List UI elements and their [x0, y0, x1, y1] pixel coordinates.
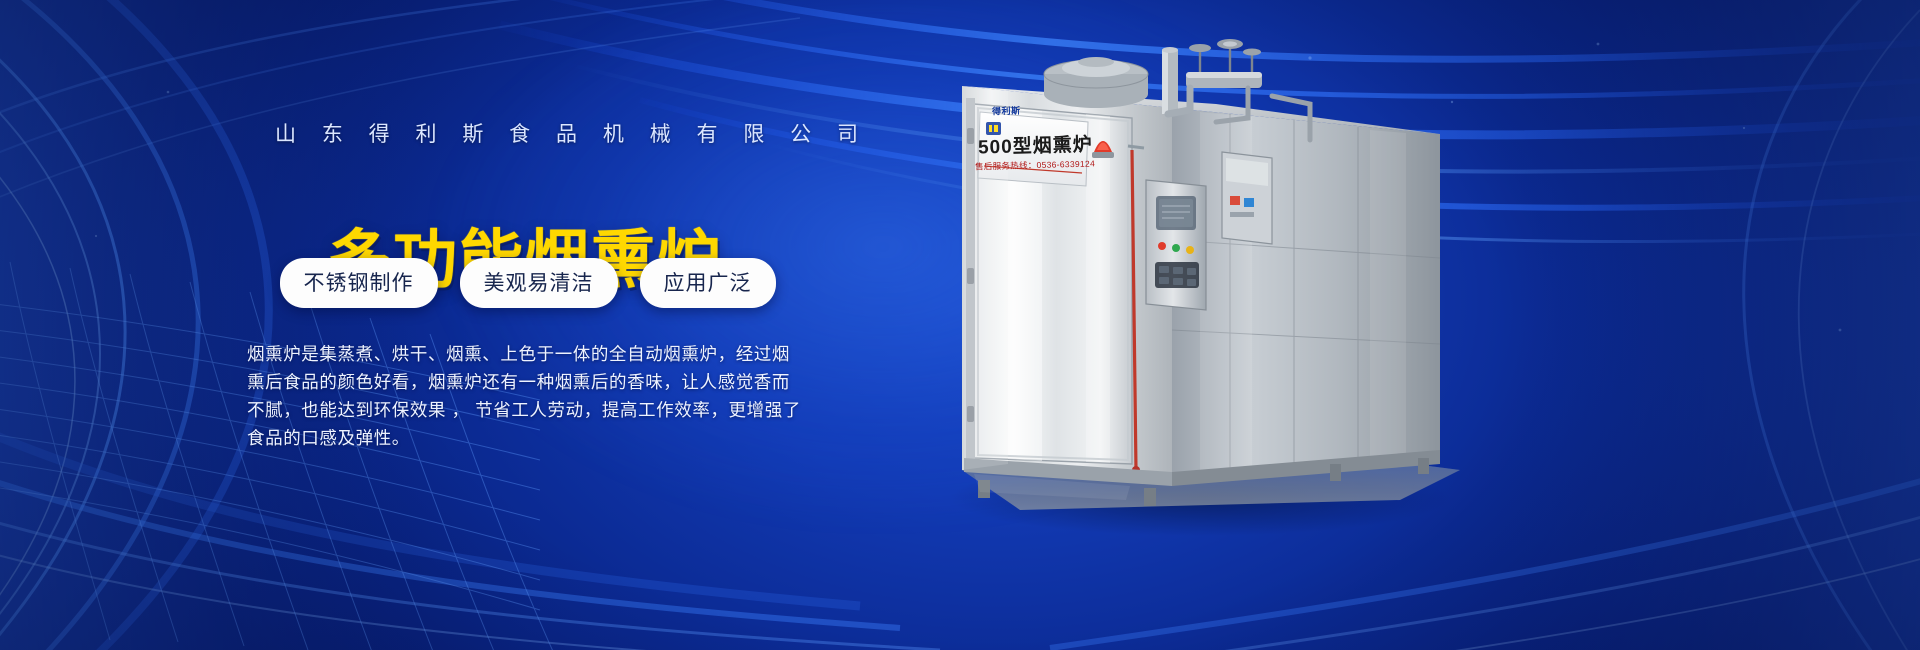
company-name: 山 东 得 利 斯 食 品 机 械 有 限 公 司 [275, 118, 775, 148]
banner-description: 烟熏炉是集蒸煮、烘干、烟熏、上色于一体的全自动烟熏炉，经过烟熏后食品的颜色好看，… [247, 340, 807, 452]
machine-sign-logo-text: 得利斯 [992, 104, 1021, 118]
feature-pill-list: 不锈钢制作 美观易清洁 应用广泛 [270, 258, 785, 308]
banner-text-block: 山 东 得 利 斯 食 品 机 械 有 限 公 司 多功能烟熏炉 不锈钢制作 美… [0, 0, 860, 650]
product-banner: 得利斯 500型烟熏炉 售后服务热线：0536-6339124 山 东 得 利 … [0, 0, 1920, 650]
feature-pill-wide-application[interactable]: 应用广泛 [640, 258, 776, 308]
machine-sign-title: 500型烟熏炉 [978, 130, 1093, 160]
feature-pill-easy-clean[interactable]: 美观易清洁 [460, 258, 618, 308]
feature-pill-stainless[interactable]: 不锈钢制作 [280, 258, 438, 308]
product-photo [900, 0, 1520, 650]
